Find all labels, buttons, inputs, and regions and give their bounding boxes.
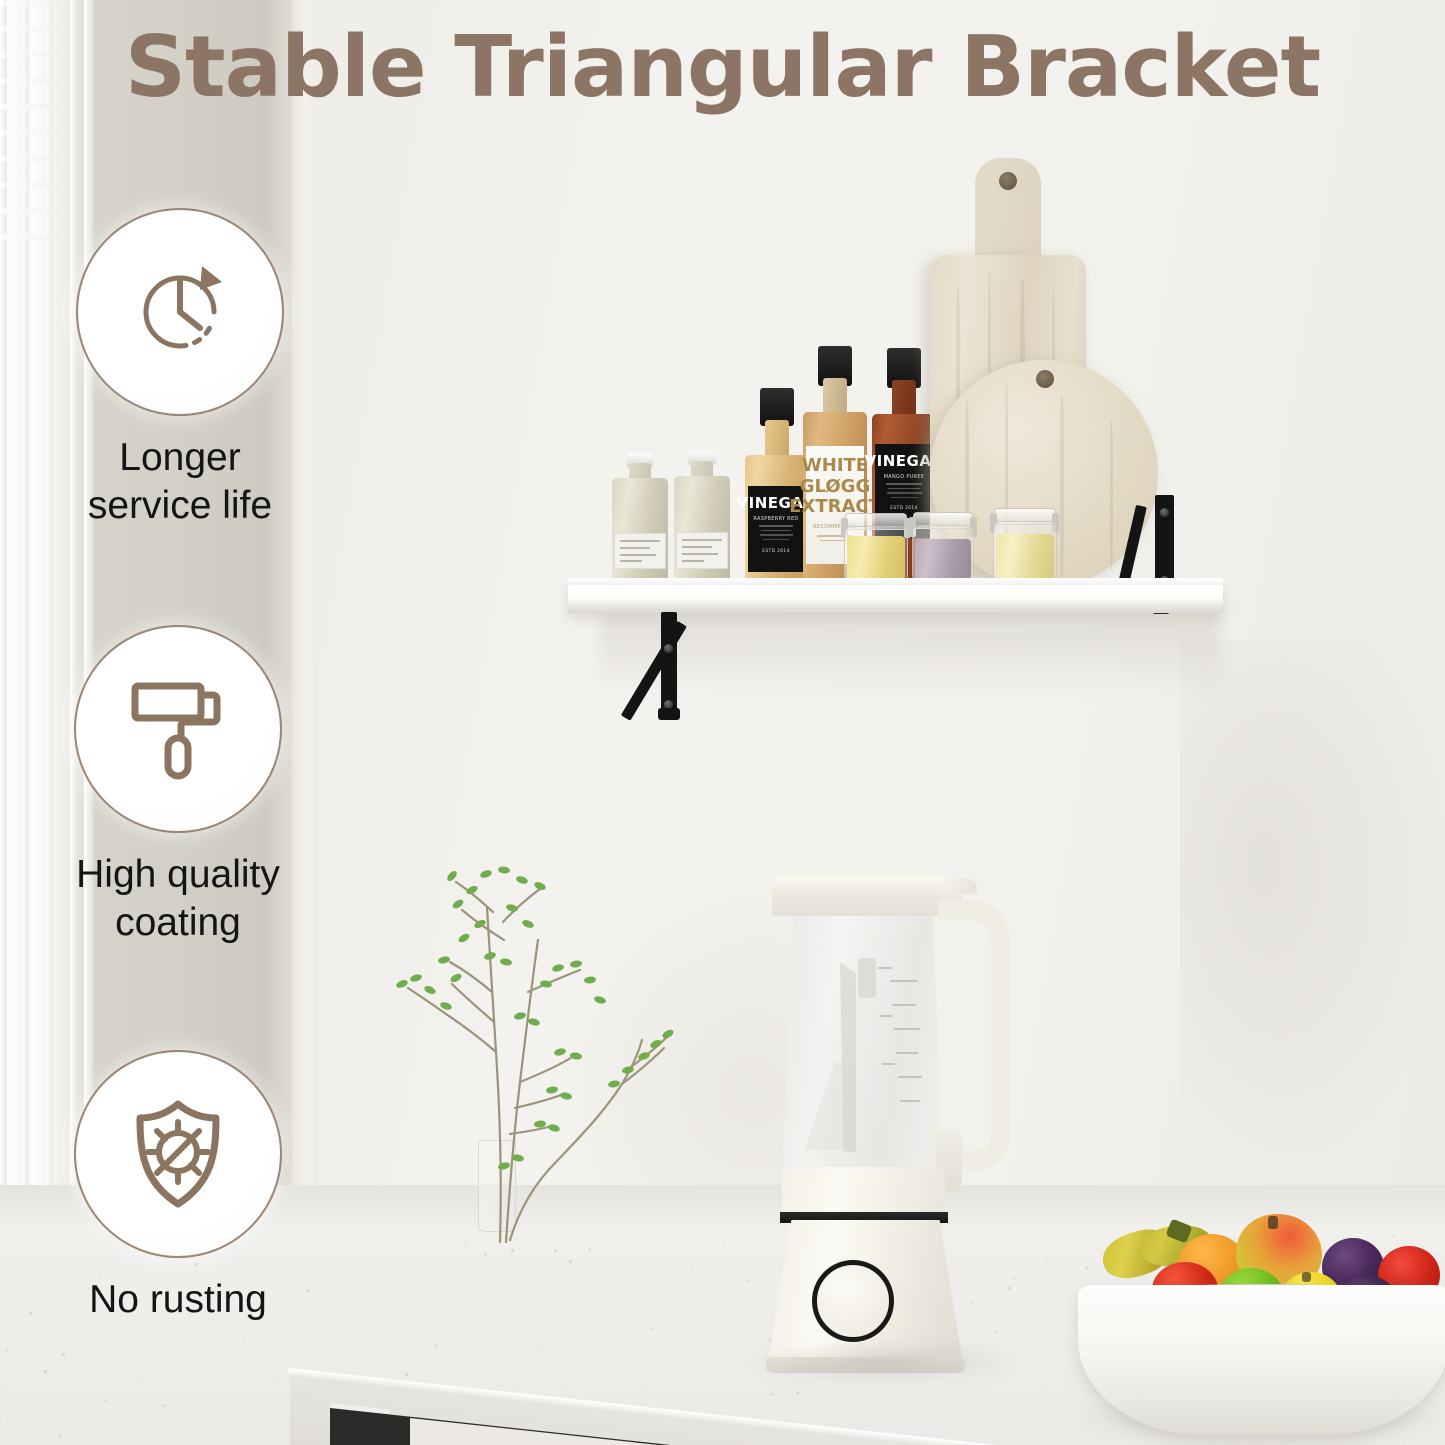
blender-spout	[943, 878, 977, 894]
shelf-board	[568, 585, 1223, 613]
blender-collar	[782, 1167, 945, 1215]
blind-slat	[0, 0, 62, 6]
feature-label-3: No rusting	[28, 1276, 328, 1324]
fruit-bowl	[1078, 1285, 1445, 1435]
blender-shadow	[742, 1345, 1022, 1379]
blind-slat	[0, 130, 62, 136]
feature-high-quality-coating: High quality coating	[28, 625, 328, 946]
clock-rotate-arrow-icon	[114, 246, 246, 378]
vinegar-2-fine: ESTD 2014	[890, 506, 918, 511]
mango-stem	[1268, 1216, 1278, 1229]
page-title: Stable Triangular Bracket	[0, 22, 1445, 114]
product-feature-image: Stable Triangular Bracket Longer service…	[0, 0, 1445, 1445]
feature-label-2: High quality coating	[28, 851, 328, 946]
feature-no-rusting: No rusting	[28, 1050, 328, 1324]
feature-badge-2	[74, 625, 282, 833]
blind-slat	[0, 156, 62, 162]
wall-shadow	[1180, 640, 1445, 1200]
blender-lid	[774, 876, 954, 898]
vinegar-1-fine: ESTD 2014	[762, 549, 790, 554]
paint-roller-icon	[113, 664, 243, 794]
feature-longer-service-life: Longer service life	[30, 208, 330, 529]
blender-jar	[782, 914, 944, 1179]
blender	[760, 862, 1010, 1372]
shield-no-rust-icon	[114, 1090, 242, 1218]
blind-slat	[0, 182, 62, 188]
shelf-drop-shadow	[600, 615, 1220, 695]
plant-branch	[360, 812, 690, 1282]
blender-speed-dial[interactable]	[812, 1260, 894, 1342]
feature-label-1: Longer service life	[30, 434, 330, 529]
feature-badge-1	[76, 208, 284, 416]
vinegar-2-sub: MANGO PUREE	[884, 474, 925, 480]
feature-badge-3	[74, 1050, 282, 1258]
lemon-stem	[1302, 1272, 1311, 1282]
